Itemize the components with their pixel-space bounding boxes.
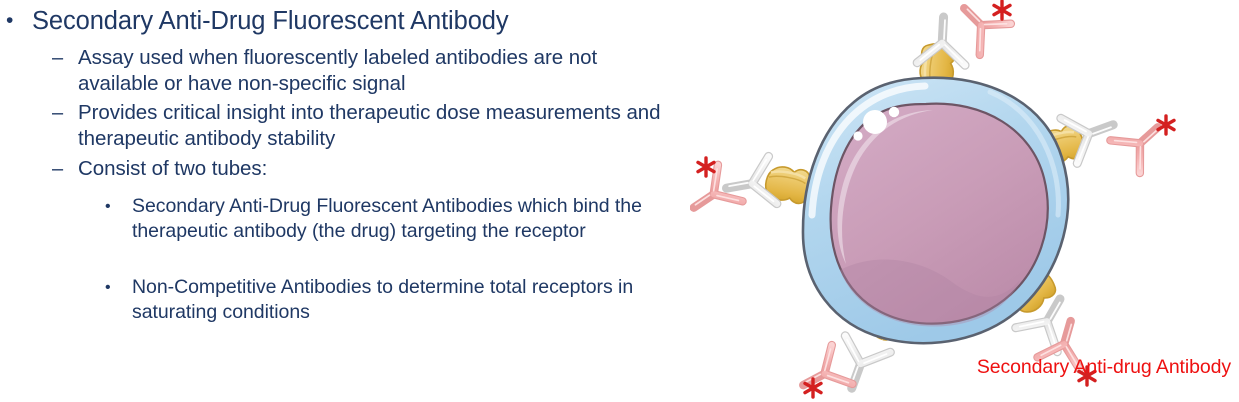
bullet-marker-dot: • xyxy=(105,275,132,300)
fluorophore-asterisk xyxy=(698,158,714,176)
bullet-marker-dash: – xyxy=(52,45,78,71)
bullet-level3-1: • Secondary Anti-Drug Fluorescent Antibo… xyxy=(105,194,680,243)
therapeutic-antibody xyxy=(829,336,890,397)
secondary-anti-drug-antibody xyxy=(690,165,743,226)
bullet-level3-2: • Non-Competitive Antibodies to determin… xyxy=(105,275,680,324)
bullet-marker-dot: • xyxy=(105,194,132,219)
bullet-level3-2-text: Non-Competitive Antibodies to determine … xyxy=(132,275,680,324)
bullet-level2-3-text: Consist of two tubes: xyxy=(78,156,267,182)
fluorophore-asterisk xyxy=(994,1,1010,19)
bullet-level3-1-text: Secondary Anti-Drug Fluorescent Antibodi… xyxy=(132,194,680,243)
bullet-marker-dash: – xyxy=(52,156,78,182)
antibody-complex-left xyxy=(690,156,777,225)
cell-diagram: Secondary Anti-drug Antibody xyxy=(690,0,1239,402)
secondary-anti-drug-antibody xyxy=(793,345,853,402)
bullet-level2-2-text: Provides critical insight into therapeut… xyxy=(78,100,672,151)
bullet-level2-2: – Provides critical insight into therape… xyxy=(52,100,672,151)
antibody-complex-bottom-left xyxy=(793,336,890,402)
secondary-anti-drug-antibody xyxy=(1110,111,1172,173)
bullet-level2-1-text: Assay used when fluorescently labeled an… xyxy=(78,45,672,96)
bullet-title: • Secondary Anti-Drug Fluorescent Antibo… xyxy=(6,6,686,37)
antibody-complex-top xyxy=(917,0,1011,65)
bullet-marker-dot: • xyxy=(6,6,32,36)
bullet-title-text: Secondary Anti-Drug Fluorescent Antibody xyxy=(32,6,509,37)
bullet-level2-3: – Consist of two tubes: xyxy=(52,156,672,182)
bullet-marker-dash: – xyxy=(52,100,78,126)
cell-illustration-svg xyxy=(690,0,1239,402)
figure-caption: Secondary Anti-drug Antibody xyxy=(977,356,1231,378)
bullet-level2-1: – Assay used when fluorescently labeled … xyxy=(52,45,672,96)
slide-text-column: • Secondary Anti-Drug Fluorescent Antibo… xyxy=(0,0,700,402)
